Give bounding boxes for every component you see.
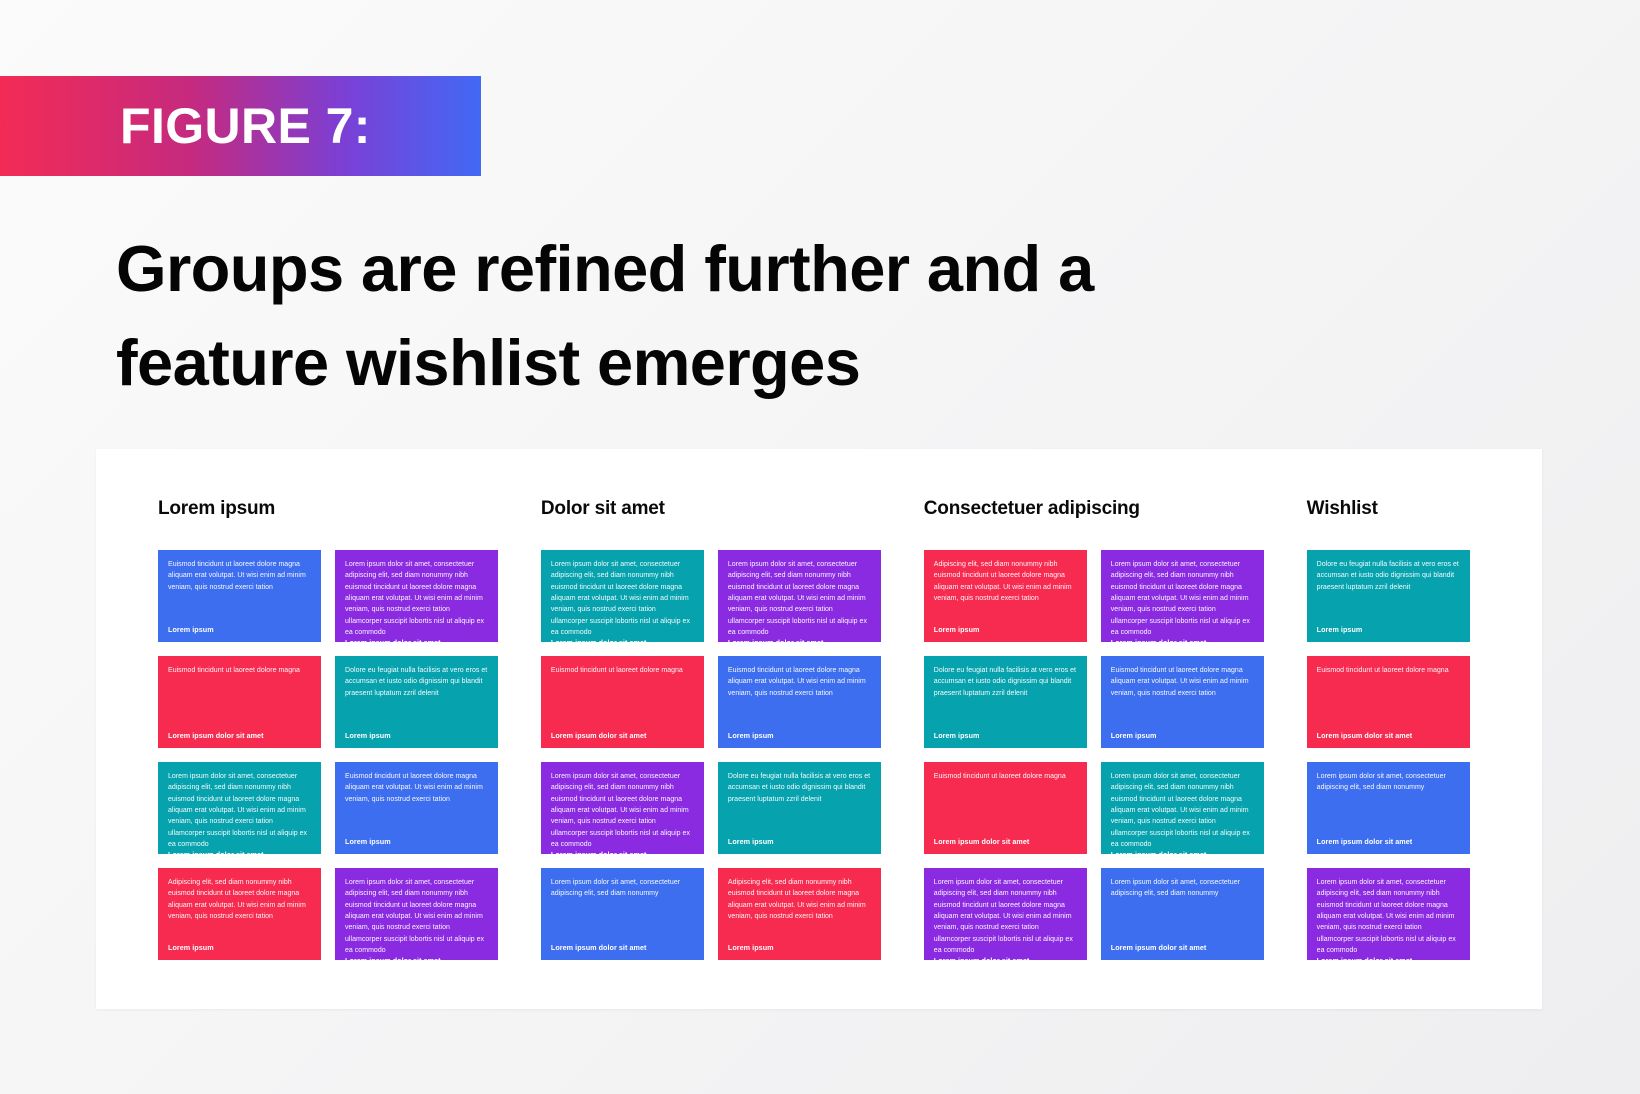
sticky-note-card[interactable]: Euismod tincidunt ut laoreet dolore magn… [541,656,704,748]
cards-grid: Adipiscing elit, sed diam nonummy nibh e… [924,550,1307,960]
column-title: Consectetuer adipiscing [924,498,1307,520]
sticky-note-card[interactable]: Lorem ipsum dolor sit amet, consectetuer… [1307,868,1470,960]
card-label: Lorem ipsum dolor sit amet [1111,638,1254,642]
board-column: WishlistDolore eu feugiat nulla facilisi… [1307,498,1502,960]
sticky-note-card[interactable]: Euismod tincidunt ut laoreet dolore magn… [158,656,321,748]
card-label: Lorem ipsum [168,625,311,634]
card-label: Lorem ipsum [345,837,488,846]
sticky-note-card[interactable]: Euismod tincidunt ut laoreet dolore magn… [924,762,1087,854]
card-body-text: Lorem ipsum dolor sit amet, consectetuer… [345,877,488,956]
sticky-note-card[interactable]: Lorem ipsum dolor sit amet, consectetuer… [1101,550,1264,642]
sticky-note-card[interactable]: Lorem ipsum dolor sit amet, consectetuer… [335,868,498,960]
card-body-text: Dolore eu feugiat nulla facilisis at ver… [934,665,1077,699]
card-label: Lorem ipsum [1111,731,1254,740]
sticky-note-card[interactable]: Euismod tincidunt ut laoreet dolore magn… [158,550,321,642]
cards-grid: Dolore eu feugiat nulla facilisis at ver… [1307,550,1502,960]
card-label: Lorem ipsum dolor sit amet [728,638,871,642]
card-label: Lorem ipsum dolor sit amet [345,956,488,960]
card-label: Lorem ipsum dolor sit amet [934,837,1077,846]
sticky-note-card[interactable]: Adipiscing elit, sed diam nonummy nibh e… [158,868,321,960]
board-column: Consectetuer adipiscingAdipiscing elit, … [924,498,1307,960]
sticky-note-card[interactable]: Lorem ipsum dolor sit amet, consectetuer… [158,762,321,854]
card-label: Lorem ipsum dolor sit amet [551,943,694,952]
card-body-text: Dolore eu feugiat nulla facilisis at ver… [728,771,871,805]
card-label: Lorem ipsum [345,731,488,740]
card-body-text: Lorem ipsum dolor sit amet, consectetuer… [551,877,694,900]
card-label: Lorem ipsum dolor sit amet [551,731,694,740]
card-body-text: Euismod tincidunt ut laoreet dolore magn… [1111,665,1254,699]
card-body-text: Euismod tincidunt ut laoreet dolore magn… [1317,665,1460,676]
card-label: Lorem ipsum dolor sit amet [1317,837,1460,846]
sticky-note-card[interactable]: Lorem ipsum dolor sit amet, consectetuer… [924,868,1087,960]
board-column: Lorem ipsumEuismod tincidunt ut laoreet … [158,498,541,960]
board-column: Dolor sit ametLorem ipsum dolor sit amet… [541,498,924,960]
sticky-note-card[interactable]: Euismod tincidunt ut laoreet dolore magn… [1307,656,1470,748]
card-label: Lorem ipsum dolor sit amet [551,638,694,642]
card-body-text: Euismod tincidunt ut laoreet dolore magn… [168,665,311,676]
card-body-text: Lorem ipsum dolor sit amet, consectetuer… [551,771,694,850]
sticky-note-card[interactable]: Lorem ipsum dolor sit amet, consectetuer… [1101,868,1264,960]
sticky-note-card[interactable]: Lorem ipsum dolor sit amet, consectetuer… [1101,762,1264,854]
card-body-text: Euismod tincidunt ut laoreet dolore magn… [934,771,1077,782]
card-label: Lorem ipsum [934,731,1077,740]
card-body-text: Lorem ipsum dolor sit amet, consectetuer… [168,771,311,850]
card-label: Lorem ipsum dolor sit amet [1111,943,1254,952]
card-label: Lorem ipsum [1317,625,1460,634]
column-title: Wishlist [1307,498,1502,520]
card-body-text: Adipiscing elit, sed diam nonummy nibh e… [934,559,1077,604]
card-body-text: Euismod tincidunt ut laoreet dolore magn… [551,665,694,676]
card-body-text: Adipiscing elit, sed diam nonummy nibh e… [728,877,871,922]
card-label: Lorem ipsum dolor sit amet [551,850,694,854]
card-body-text: Lorem ipsum dolor sit amet, consectetuer… [1317,877,1460,956]
column-title: Lorem ipsum [158,498,541,520]
card-body-text: Euismod tincidunt ut laoreet dolore magn… [728,665,871,699]
column-title: Dolor sit amet [541,498,924,520]
card-label: Lorem ipsum dolor sit amet [1317,956,1460,960]
card-label: Lorem ipsum dolor sit amet [345,638,488,642]
sticky-note-card[interactable]: Euismod tincidunt ut laoreet dolore magn… [718,656,881,748]
board-panel: Lorem ipsumEuismod tincidunt ut laoreet … [96,449,1542,1009]
sticky-note-card[interactable]: Lorem ipsum dolor sit amet, consectetuer… [718,550,881,642]
card-body-text: Lorem ipsum dolor sit amet, consectetuer… [1111,559,1254,638]
card-label: Lorem ipsum dolor sit amet [1317,731,1460,740]
sticky-note-card[interactable]: Lorem ipsum dolor sit amet, consectetuer… [541,868,704,960]
card-label: Lorem ipsum dolor sit amet [1111,850,1254,854]
sticky-note-card[interactable]: Dolore eu feugiat nulla facilisis at ver… [718,762,881,854]
sticky-note-card[interactable]: Dolore eu feugiat nulla facilisis at ver… [1307,550,1470,642]
sticky-note-card[interactable]: Lorem ipsum dolor sit amet, consectetuer… [541,550,704,642]
card-body-text: Lorem ipsum dolor sit amet, consectetuer… [728,559,871,638]
card-body-text: Adipiscing elit, sed diam nonummy nibh e… [168,877,311,922]
card-body-text: Euismod tincidunt ut laoreet dolore magn… [345,771,488,805]
card-body-text: Dolore eu feugiat nulla facilisis at ver… [345,665,488,699]
sticky-note-card[interactable]: Dolore eu feugiat nulla facilisis at ver… [335,656,498,748]
sticky-note-card[interactable]: Lorem ipsum dolor sit amet, consectetuer… [335,550,498,642]
page-title: Groups are refined further and a feature… [116,222,1296,411]
cards-grid: Euismod tincidunt ut laoreet dolore magn… [158,550,541,960]
sticky-note-card[interactable]: Adipiscing elit, sed diam nonummy nibh e… [718,868,881,960]
figure-badge: FIGURE 7: [0,76,481,176]
sticky-note-card[interactable]: Euismod tincidunt ut laoreet dolore magn… [335,762,498,854]
card-body-text: Lorem ipsum dolor sit amet, consectetuer… [1111,877,1254,900]
figure-badge-label: FIGURE 7: [120,101,371,151]
card-label: Lorem ipsum [728,837,871,846]
sticky-note-card[interactable]: Dolore eu feugiat nulla facilisis at ver… [924,656,1087,748]
card-label: Lorem ipsum [728,731,871,740]
cards-grid: Lorem ipsum dolor sit amet, consectetuer… [541,550,924,960]
card-label: Lorem ipsum [934,625,1077,634]
card-label: Lorem ipsum dolor sit amet [934,956,1077,960]
card-body-text: Lorem ipsum dolor sit amet, consectetuer… [1317,771,1460,794]
sticky-note-card[interactable]: Euismod tincidunt ut laoreet dolore magn… [1101,656,1264,748]
card-label: Lorem ipsum dolor sit amet [168,731,311,740]
sticky-note-card[interactable]: Adipiscing elit, sed diam nonummy nibh e… [924,550,1087,642]
card-label: Lorem ipsum dolor sit amet [168,850,311,854]
card-body-text: Lorem ipsum dolor sit amet, consectetuer… [345,559,488,638]
card-body-text: Dolore eu feugiat nulla facilisis at ver… [1317,559,1460,593]
board-columns: Lorem ipsumEuismod tincidunt ut laoreet … [158,498,1502,960]
card-body-text: Lorem ipsum dolor sit amet, consectetuer… [1111,771,1254,850]
card-body-text: Euismod tincidunt ut laoreet dolore magn… [168,559,311,593]
card-label: Lorem ipsum [168,943,311,952]
sticky-note-card[interactable]: Lorem ipsum dolor sit amet, consectetuer… [541,762,704,854]
card-body-text: Lorem ipsum dolor sit amet, consectetuer… [934,877,1077,956]
sticky-note-card[interactable]: Lorem ipsum dolor sit amet, consectetuer… [1307,762,1470,854]
card-body-text: Lorem ipsum dolor sit amet, consectetuer… [551,559,694,638]
card-label: Lorem ipsum [728,943,871,952]
